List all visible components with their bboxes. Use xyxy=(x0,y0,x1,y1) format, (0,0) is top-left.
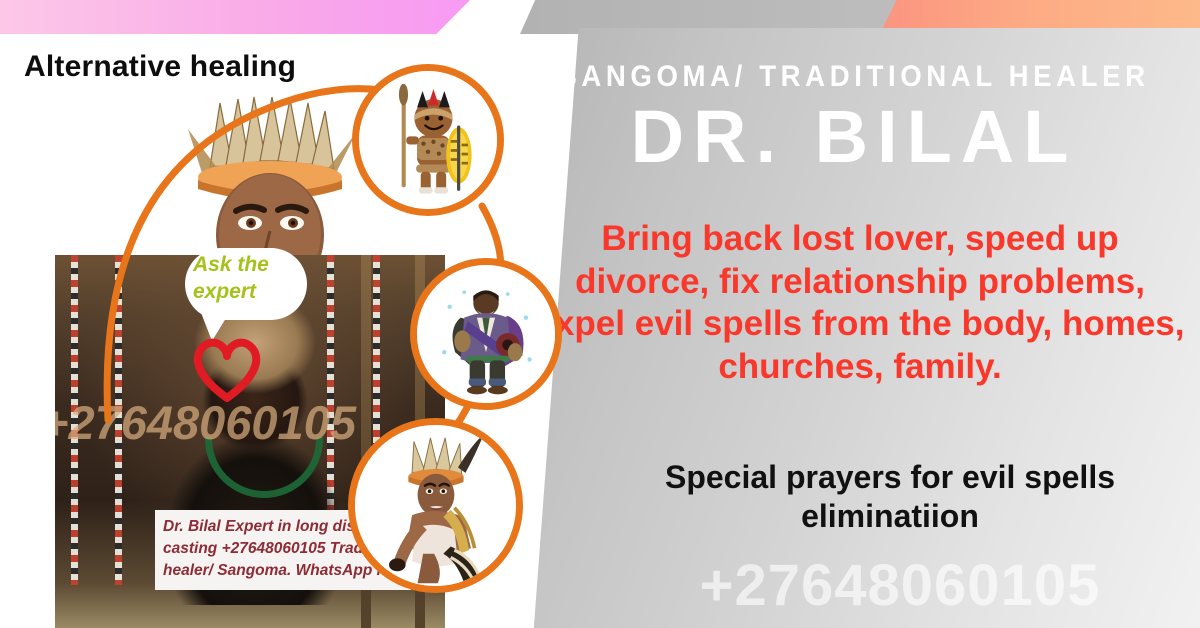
alternative-healing-heading: Alternative healing xyxy=(24,50,296,84)
zulu-warrior-icon xyxy=(352,64,504,216)
heart-icon xyxy=(188,332,266,404)
services-description: Bring back lost lover, speed up divorce,… xyxy=(530,218,1190,389)
right-content-group: SANGOMA/ TRADITIONAL HEALER DR. BILAL Br… xyxy=(520,28,1200,628)
page-title: DR. BILAL xyxy=(520,100,1188,174)
traditional-healer-icon xyxy=(410,258,562,410)
sangoma-dancer-icon xyxy=(348,418,523,593)
speech-bubble-text: Ask the expert xyxy=(193,252,303,306)
phone-watermark-panel: +27648060105 xyxy=(590,552,1200,619)
headline-kicker: SANGOMA/ TRADITIONAL HEALER xyxy=(547,60,1162,94)
special-prayers-text: Special prayers for evil spells eliminat… xyxy=(580,458,1200,536)
promotional-banner: SANGOMA/ TRADITIONAL HEALER DR. BILAL Br… xyxy=(0,0,1200,628)
top-bar-pink xyxy=(0,0,470,34)
